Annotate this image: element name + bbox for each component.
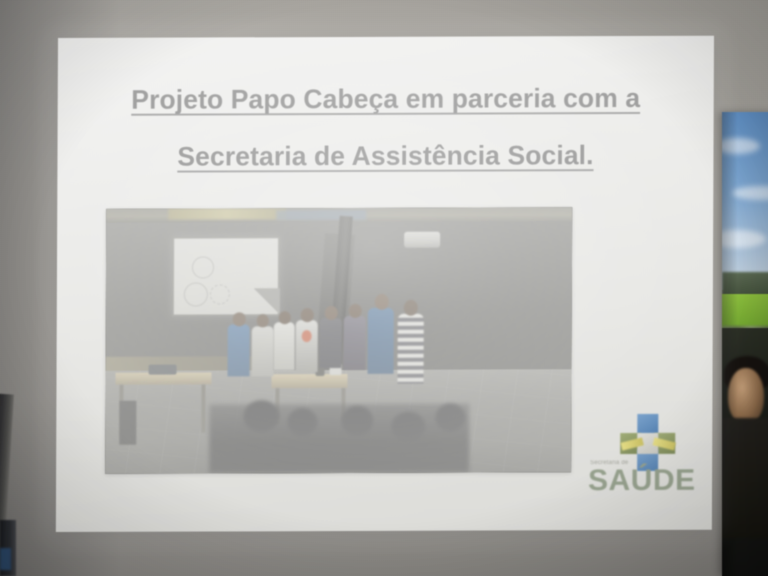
photo-person-body: [320, 318, 342, 368]
photo-person-head: [375, 294, 389, 310]
photo-person-body: [344, 316, 366, 370]
photo-audience-head: [341, 406, 373, 436]
projected-slide: Projeto Papo Cabeça em parceria com a Se…: [56, 36, 714, 532]
photo-screen-diagram-circle: [184, 282, 208, 306]
photo-projector: [149, 365, 177, 375]
artwork-shading: [722, 112, 768, 576]
photo-person-head: [349, 304, 362, 318]
logo-wordmark: SAÚDE: [588, 464, 696, 498]
photo-screen-corner-fold: [254, 288, 280, 314]
photo-screen-diagram-circle: [192, 256, 214, 278]
photo-air-conditioner: [404, 232, 440, 248]
photo-person-body: [296, 320, 318, 372]
cross-quadrant-top: [637, 414, 658, 435]
photo-person-head: [404, 300, 418, 316]
photo-screen-diagram-circle: [210, 284, 230, 304]
photo-person-head: [257, 314, 269, 327]
photo-table-leg: [201, 384, 205, 432]
photo-person-body: [228, 324, 250, 376]
photo-audience-head: [391, 412, 425, 442]
photo-person-body: [274, 322, 295, 370]
photo-person-body: [368, 308, 394, 374]
photo-audience-head: [243, 400, 279, 432]
photo-person-body: [252, 326, 274, 376]
slide-title: Projeto Papo Cabeça em parceria com a Se…: [57, 84, 713, 173]
saude-logo: Secretaria de SAÚDE: [590, 414, 690, 494]
photo-person-body-striped: [397, 314, 423, 384]
photo-person-head: [233, 312, 246, 326]
photo-held-object: [302, 330, 312, 342]
projected-slide-scene: Projeto Papo Cabeça em parceria com a Se…: [0, 0, 768, 576]
slide-content: Projeto Papo Cabeça em parceria com a Se…: [56, 36, 714, 532]
slide-photograph: [105, 207, 572, 474]
photo-person-head: [279, 311, 291, 324]
photo-front-table: [271, 374, 347, 388]
photo-person-head: [301, 308, 314, 322]
photo-audience-head: [287, 408, 317, 436]
slide-title-line-2: Secretaria de Assistência Social.: [177, 141, 593, 172]
slide-title-line-1: Projeto Papo Cabeça em parceria com a: [131, 84, 640, 115]
equipment-stand-accent: [0, 548, 11, 570]
photo-audience-head: [435, 404, 465, 432]
wall-artwork: [722, 112, 768, 576]
photo-ceiling-banner-yellow: [168, 208, 286, 219]
photo-person-head: [325, 306, 338, 320]
photo-computer-tower: [119, 401, 136, 445]
photo-ceiling-banner-blue: [276, 210, 366, 220]
photo-projection-screen: [172, 236, 280, 316]
